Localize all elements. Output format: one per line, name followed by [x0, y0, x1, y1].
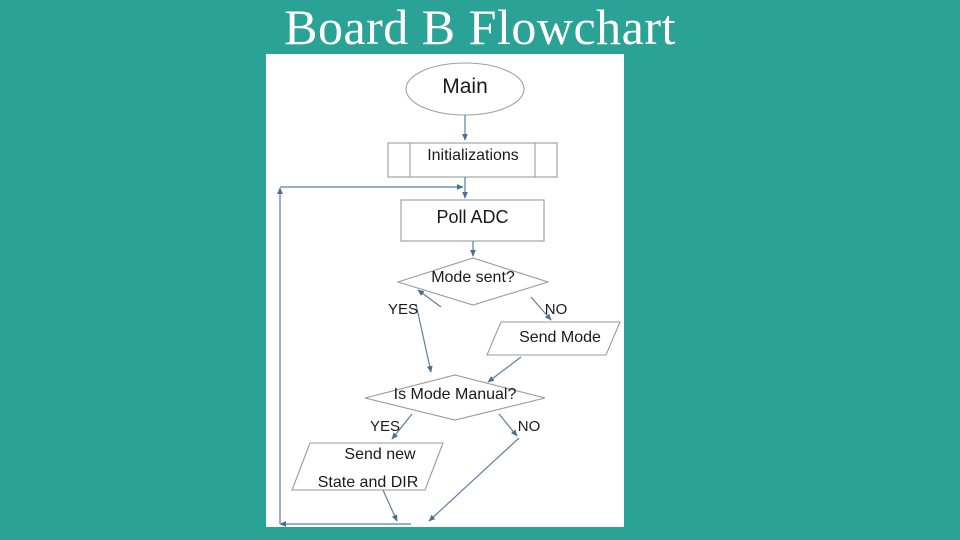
node-is-mode-manual-shape: [365, 375, 545, 420]
flowchart-canvas: Main Initializations Poll ADC Mode sent?…: [266, 54, 624, 527]
node-mode-sent-shape: [398, 258, 548, 305]
node-send-mode-shape: [487, 322, 620, 355]
connector-no-branch-to-merge: [429, 438, 519, 521]
node-send-new-state-shape: [292, 443, 443, 490]
connector-mode-sent-yes-to-is-mode-manual: [416, 304, 431, 372]
page-title: Board B Flowchart: [0, 0, 960, 58]
connector-send-mode-to-is-mode-manual: [488, 357, 521, 382]
node-main-shape: [406, 63, 524, 115]
node-initializations-shape: [388, 143, 557, 177]
connector-mode-sent-no-to-send-mode: [531, 297, 551, 320]
slide-root: Board B Flowchart: [0, 0, 960, 540]
flowchart-diagram: [266, 54, 624, 527]
connector-is-mode-manual-yes-to-send-new-state: [392, 414, 412, 439]
node-poll-adc-shape: [401, 200, 544, 241]
connector-send-new-state-to-merge: [383, 490, 397, 521]
connector-is-mode-manual-no-down: [499, 414, 517, 436]
